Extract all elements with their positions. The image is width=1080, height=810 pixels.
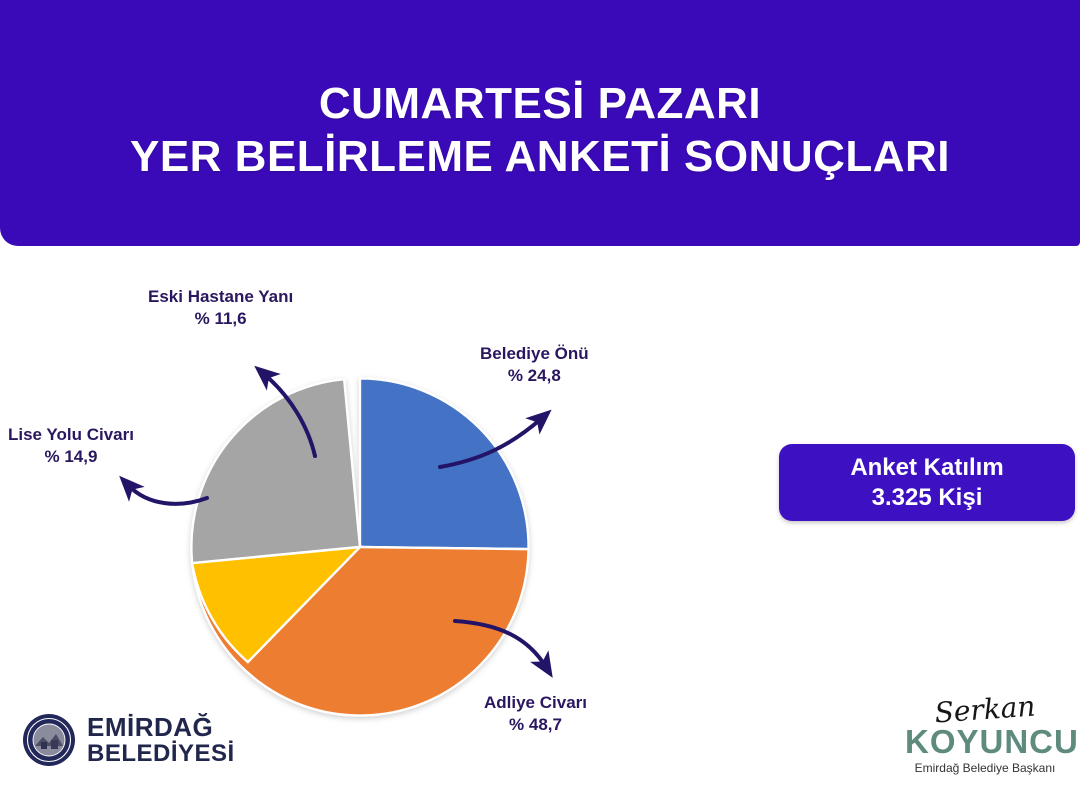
participation-badge: Anket Katılım 3.325 Kişi <box>779 444 1075 521</box>
signature-role: Emirdağ Belediye Başkanı <box>905 761 1065 775</box>
mayor-signature: Serkan KOYUNCU Emirdağ Belediye Başkanı <box>905 696 1065 775</box>
logo-line-2: BELEDİYESİ <box>87 742 235 766</box>
pie-chart-svg <box>188 375 532 719</box>
slice-label-adliye-civari: Adliye Civarı % 48,7 <box>484 692 587 737</box>
municipal-seal-icon <box>22 713 76 767</box>
pie-slice-belediye-onu[interactable] <box>360 378 529 549</box>
signature-surname: KOYUNCU <box>905 725 1065 758</box>
slice-label-lise-yolu-civari: Lise Yolu Civarı % 14,9 <box>8 424 134 469</box>
slice-label-percent: % 14,9 <box>8 446 134 468</box>
slice-label-name: Eski Hastane Yanı <box>148 287 293 306</box>
slice-label-name: Belediye Önü <box>480 344 589 363</box>
page-title-line-1: CUMARTESİ PAZARI <box>319 79 761 128</box>
pie-chart <box>188 375 532 719</box>
logo-line-1: EMİRDAĞ <box>87 714 235 740</box>
slice-label-percent: % 48,7 <box>484 714 587 736</box>
slice-label-belediye-onu: Belediye Önü % 24,8 <box>480 343 589 388</box>
header-banner: CUMARTESİ PAZARI YER BELİRLEME ANKETİ SO… <box>0 0 1080 246</box>
municipality-logo: EMİRDAĞ BELEDİYESİ <box>22 713 235 767</box>
slice-label-eski-hastane-yani: Eski Hastane Yanı % 11,6 <box>148 286 293 331</box>
slice-label-name: Adliye Civarı <box>484 693 587 712</box>
participation-value: 3.325 Kişi <box>872 483 983 512</box>
slice-label-percent: % 24,8 <box>480 365 589 387</box>
page-title-line-2: YER BELİRLEME ANKETİ SONUÇLARI <box>130 132 950 181</box>
pie-slice-lise-yolu-civari[interactable] <box>191 379 360 563</box>
slice-label-percent: % 11,6 <box>148 308 293 330</box>
slice-label-name: Lise Yolu Civarı <box>8 425 134 444</box>
participation-label: Anket Katılım <box>850 453 1003 482</box>
content-area: Eski Hastane Yanı % 11,6 Lise Yolu Civar… <box>0 246 1080 810</box>
